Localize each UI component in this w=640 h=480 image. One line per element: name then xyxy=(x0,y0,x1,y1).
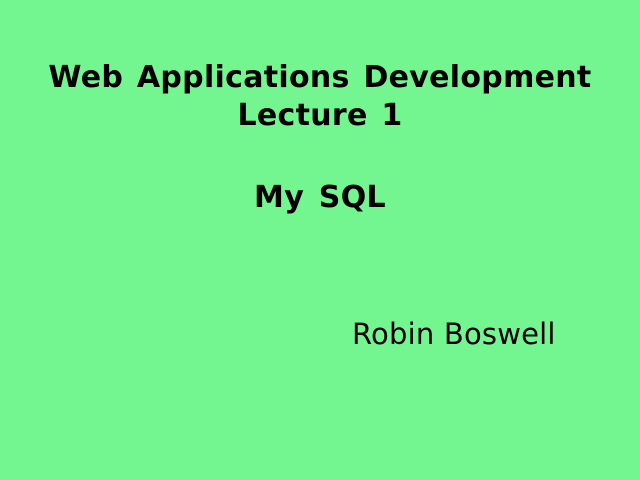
slide-subtitle: My SQL xyxy=(0,180,640,216)
slide-author: Robin Boswell xyxy=(352,316,556,352)
slide-title-line-2: Lecture 1 xyxy=(0,97,640,135)
slide-title-line-1: Web Applications Development xyxy=(0,59,640,97)
presentation-slide: Web Applications Development Lecture 1 M… xyxy=(0,0,640,480)
slide-title: Web Applications Development Lecture 1 xyxy=(0,59,640,135)
